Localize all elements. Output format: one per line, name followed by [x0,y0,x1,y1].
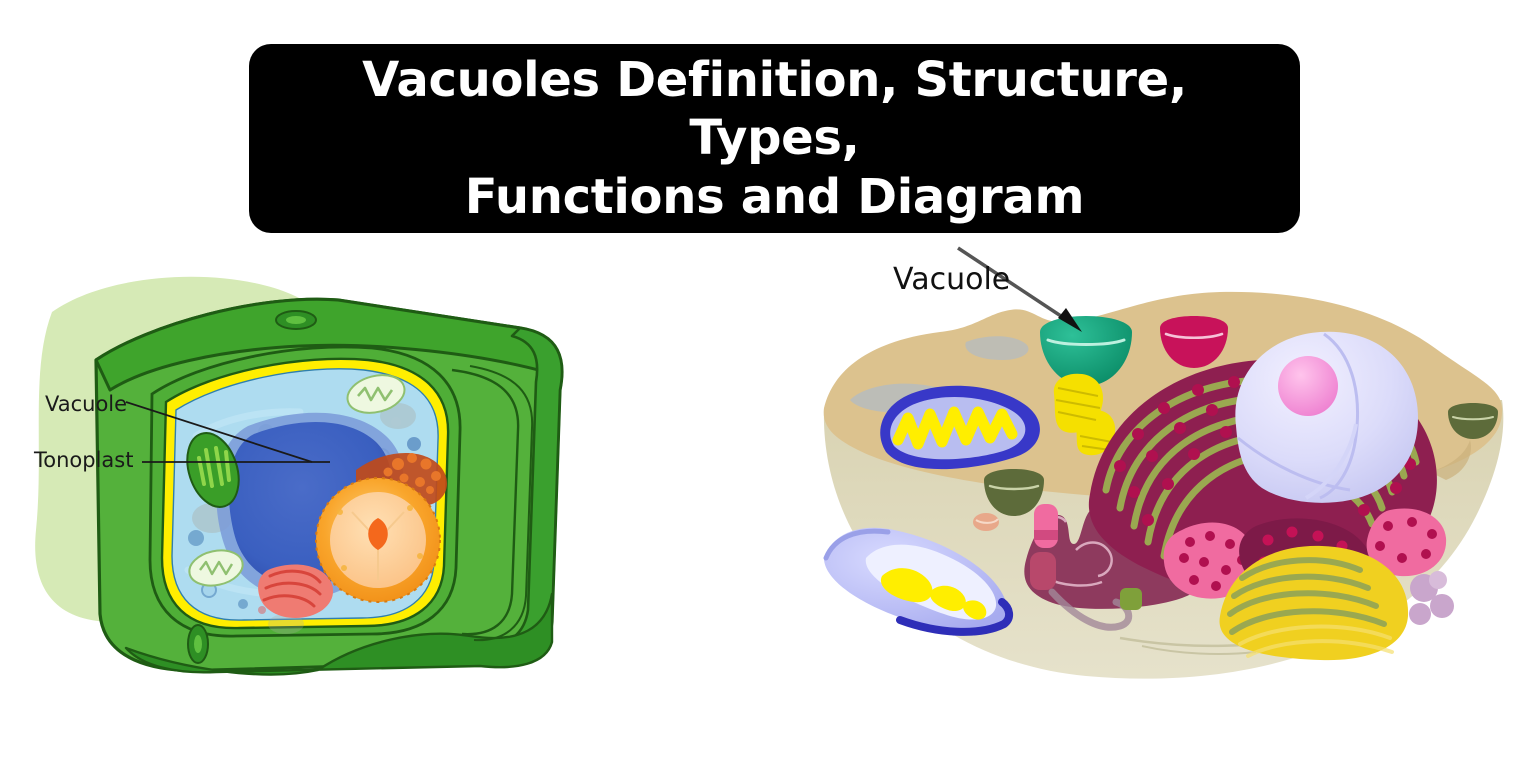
page-root: Vacuoles Definition, Structure, Types, F… [0,0,1536,768]
plant-plasmodesma-top [276,311,316,329]
plant-plasmodesma-bottom [188,625,208,663]
label-tonoplast-plant: Tonoplast [34,450,133,471]
label-vacuole-plant: Vacuole [45,394,127,415]
plant-cell-figure [0,250,700,730]
label-vacuole-animal: Vacuole [893,265,1010,295]
plant-cell-illustration [0,250,700,730]
animal-vesicle-small [973,513,999,531]
plant-golgi-apparatus [258,565,333,618]
animal-nucleus [1235,332,1418,503]
title-banner: Vacuoles Definition, Structure, Types, F… [249,44,1300,233]
plant-nucleus [316,478,440,602]
animal-cell-figure [790,240,1536,730]
animal-lysosome-cluster [1409,571,1454,625]
animal-cell-illustration [790,240,1536,730]
page-title: Vacuoles Definition, Structure, Types, F… [279,51,1270,227]
